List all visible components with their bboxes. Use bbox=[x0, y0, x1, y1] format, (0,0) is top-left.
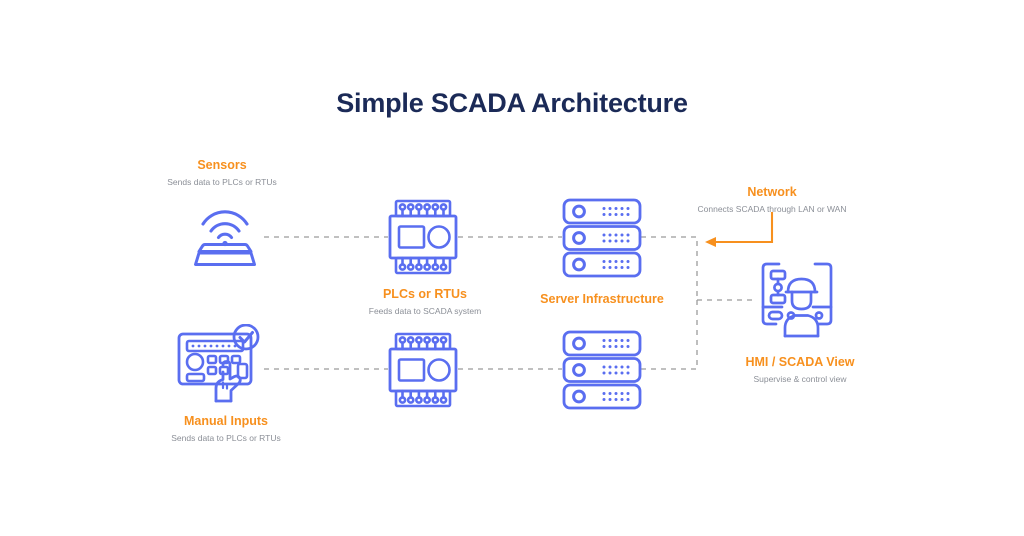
server-stack-icon-secondary bbox=[560, 328, 644, 412]
label-sensors-subtitle: Sends data to PLCs or RTUs bbox=[126, 177, 318, 188]
sensor-wifi-icon bbox=[183, 196, 267, 268]
plc-module-icon bbox=[385, 195, 461, 279]
label-server-infrastructure-title: Server Infrastructure bbox=[502, 292, 702, 308]
label-server-infrastructure: Server Infrastructure bbox=[502, 292, 702, 308]
network-arrow-path bbox=[713, 213, 772, 242]
label-hmi-scada-view: HMI / SCADA View Supervise & control vie… bbox=[700, 355, 900, 384]
control-panel-hand-icon bbox=[174, 324, 266, 404]
wire-server-top-to-bus bbox=[641, 237, 697, 300]
hmi-operator-icon bbox=[755, 260, 839, 340]
label-plcs-subtitle: Feeds data to SCADA system bbox=[325, 306, 525, 317]
label-network-subtitle: Connects SCADA through LAN or WAN bbox=[662, 204, 882, 215]
connector-lines-layer bbox=[0, 0, 1024, 536]
label-network-title: Network bbox=[662, 185, 882, 201]
label-sensors-title: Sensors bbox=[126, 158, 318, 174]
server-stack-icon bbox=[560, 196, 644, 280]
page-title: Simple SCADA Architecture bbox=[0, 88, 1024, 119]
label-plcs-title: PLCs or RTUs bbox=[325, 287, 525, 303]
label-network: Network Connects SCADA through LAN or WA… bbox=[662, 185, 882, 214]
label-sensors: Sensors Sends data to PLCs or RTUs bbox=[126, 158, 318, 187]
label-manual-inputs-title: Manual Inputs bbox=[130, 414, 322, 430]
label-manual-inputs-subtitle: Sends data to PLCs or RTUs bbox=[130, 433, 322, 444]
network-arrow-head-icon bbox=[705, 237, 716, 247]
label-hmi-scada-view-subtitle: Supervise & control view bbox=[700, 374, 900, 385]
label-hmi-scada-view-title: HMI / SCADA View bbox=[700, 355, 900, 371]
diagram-canvas: Simple SCADA Architecture bbox=[0, 0, 1024, 536]
label-plcs: PLCs or RTUs Feeds data to SCADA system bbox=[325, 287, 525, 316]
wire-server-bottom-to-bus bbox=[641, 300, 697, 369]
label-manual-inputs: Manual Inputs Sends data to PLCs or RTUs bbox=[130, 414, 322, 443]
plc-module-icon-secondary bbox=[385, 328, 461, 412]
